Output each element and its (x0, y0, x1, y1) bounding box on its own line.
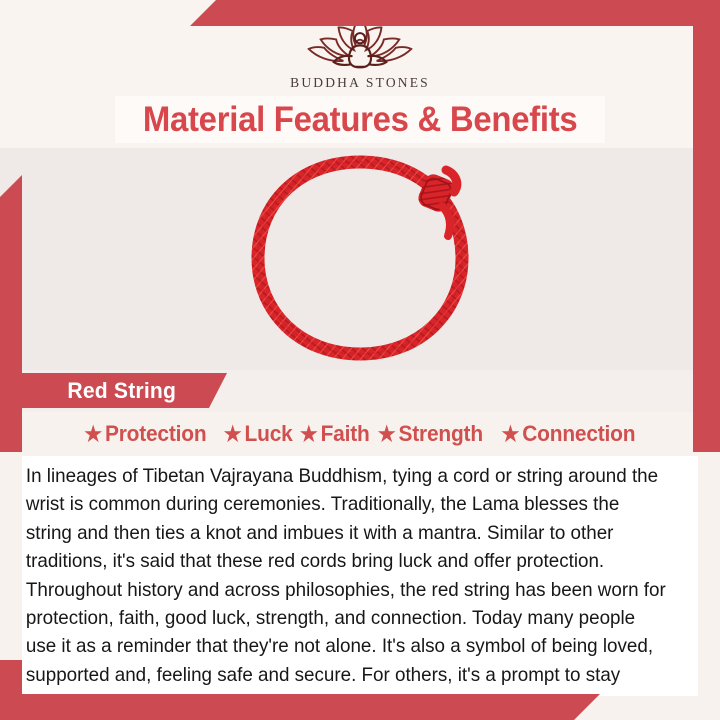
benefit-label: Protection (105, 421, 206, 447)
description-text: In lineages of Tibetan Vajrayana Buddhis… (22, 462, 678, 718)
star-icon: ★ (378, 424, 396, 445)
benefit-item-strength: ★ Strength (378, 421, 483, 447)
frame-bottom-bar (0, 694, 600, 720)
benefit-label: Luck (244, 421, 292, 447)
benefits-row: ★ Protection ★ Luck ★ Faith ★ Strength ★… (0, 412, 720, 456)
product-photo (0, 148, 720, 370)
description-panel: In lineages of Tibetan Vajrayana Buddhis… (22, 456, 698, 696)
benefit-label: Strength (399, 421, 483, 447)
material-label: Red String (25, 378, 176, 404)
star-icon: ★ (223, 424, 241, 445)
star-icon: ★ (84, 424, 102, 445)
frame-top-bar (190, 0, 720, 26)
star-icon: ★ (502, 424, 520, 445)
title-banner: Material Features & Benefits (115, 96, 605, 143)
frame-left-bar (0, 175, 22, 452)
star-icon: ★ (300, 424, 318, 445)
benefit-label: Faith (321, 421, 370, 447)
infographic-root: BUDDHA STONES Material Features & Benefi… (0, 0, 720, 720)
benefit-label: Connection (522, 421, 635, 447)
frame-right-bar (693, 0, 720, 452)
benefit-item-connection: ★ Connection (502, 421, 636, 447)
brand-name: BUDDHA STONES (270, 75, 450, 91)
material-label-tag: Red String (22, 373, 227, 408)
benefit-item-faith: ★ Faith (300, 421, 370, 447)
benefit-item-luck: ★ Luck (223, 421, 292, 447)
red-string-bracelet-image (210, 152, 510, 367)
benefit-item-protection: ★ Protection (84, 421, 206, 447)
page-title: Material Features & Benefits (143, 100, 578, 140)
